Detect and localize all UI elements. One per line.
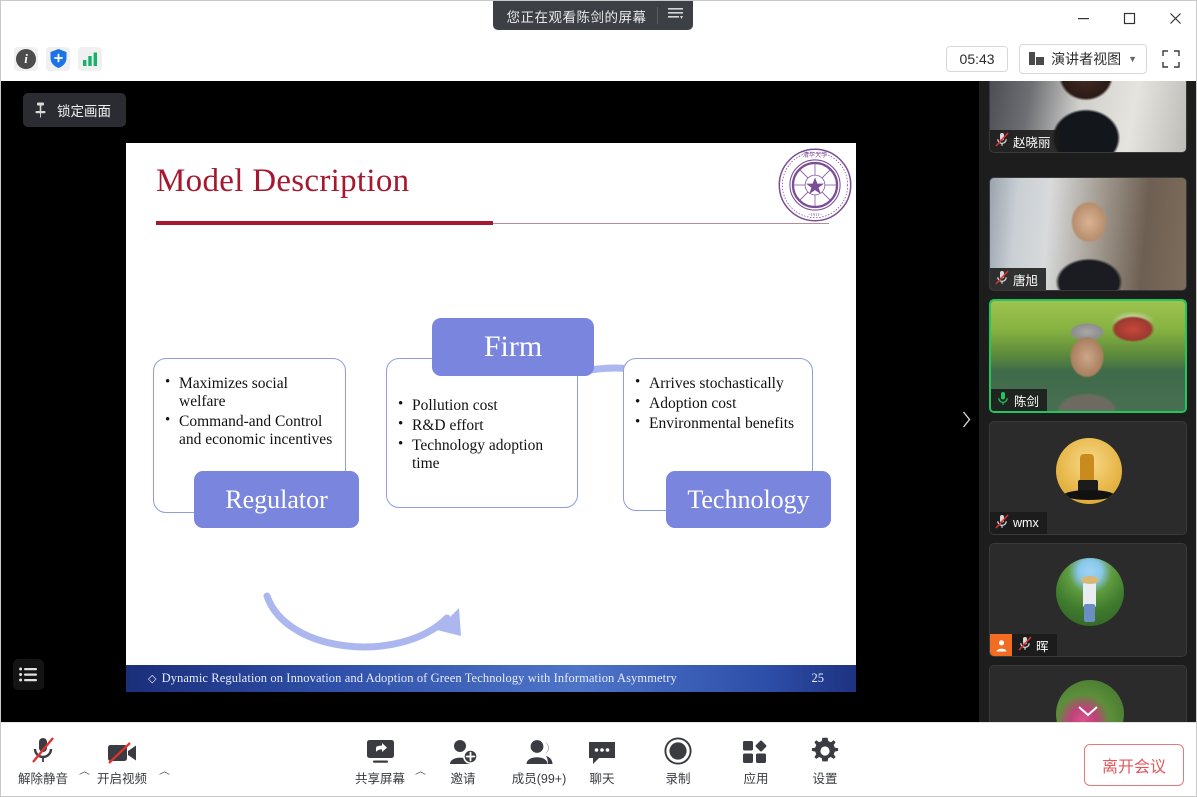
info-icon[interactable]: i <box>14 47 38 71</box>
list-item: Technology adoption time <box>397 437 567 473</box>
chevron-right-icon[interactable] <box>962 411 971 433</box>
list-item: Pollution cost <box>397 397 567 415</box>
view-mode-label: 演讲者视图 <box>1051 49 1121 69</box>
share-screen-button-label: 共享屏幕 <box>355 768 405 787</box>
mic-muted-icon <box>995 270 1009 288</box>
meeting-timer: 05:43 <box>946 46 1008 72</box>
box-firm-bullets: Pollution cost R&D effort Technology ado… <box>397 397 567 474</box>
title-rule-strong <box>156 221 493 225</box>
participant-namebar: 晖 <box>990 634 1057 656</box>
record-button-label: 录制 <box>665 768 690 787</box>
participant-name: 唐旭 <box>1013 270 1038 289</box>
list-item: Maximizes social welfare <box>164 375 335 411</box>
leave-meeting-button[interactable]: 离开会议 <box>1084 744 1184 786</box>
label-firm-text: Firm <box>484 330 542 364</box>
participant-name: 赵晓丽 <box>1013 132 1051 151</box>
meeting-window: 您正在观看陈剑的屏幕 i <box>0 0 1197 797</box>
screen-share-banner[interactable]: 您正在观看陈剑的屏幕 <box>493 1 693 30</box>
invite-user-icon <box>448 733 478 765</box>
participant-name: wmx <box>1013 516 1039 530</box>
apps-button[interactable]: 应用 <box>719 733 793 787</box>
chat-button[interactable]: 聊天 <box>565 733 639 787</box>
label-regulator-text: Regulator <box>225 485 328 515</box>
fullscreen-icon[interactable] <box>1158 46 1184 72</box>
record-icon <box>664 733 692 765</box>
mic-muted-icon <box>995 132 1009 150</box>
arrow-regulator-to-firm <box>261 588 471 668</box>
chat-button-label: 聊天 <box>589 768 614 787</box>
video-button-label: 开启视频 <box>97 768 147 787</box>
mic-muted-icon <box>995 514 1009 532</box>
mute-button-label: 解除静音 <box>18 768 68 787</box>
shared-screen-stage: 锁定画面 Model Description <box>1 81 979 722</box>
participant-namebar: 陈剑 <box>991 389 1047 411</box>
screen-share-banner-label: 您正在观看陈剑的屏幕 <box>507 6 647 26</box>
shield-plus-icon[interactable] <box>46 47 70 71</box>
list-item: Arrives stochastically <box>634 375 802 393</box>
box-regulator-bullets: Maximizes social welfare Command-and Con… <box>164 375 335 450</box>
video-off-icon <box>106 733 138 765</box>
lock-view-label: 锁定画面 <box>57 100 111 120</box>
pin-icon <box>34 102 47 118</box>
slide-footer-text: ◇Dynamic Regulation on Innovation and Ad… <box>126 671 677 686</box>
svg-text:~1911~: ~1911~ <box>808 212 822 217</box>
apps-button-label: 应用 <box>743 768 768 787</box>
speaker-view-icon <box>1029 52 1044 65</box>
list-item: Environmental benefits <box>634 415 802 433</box>
video-button[interactable]: 开启视频 <box>85 733 159 787</box>
maximize-icon[interactable] <box>1106 1 1152 36</box>
box-firm: Pollution cost R&D effort Technology ado… <box>386 358 578 508</box>
host-badge <box>990 634 1012 656</box>
model-diagram: Maximizes social welfare Command-and Con… <box>126 233 856 663</box>
participant-name: 陈剑 <box>1014 391 1039 410</box>
settings-button[interactable]: 设置 <box>788 733 862 787</box>
participant-namebar: wmx <box>990 512 1047 534</box>
mic-active-icon <box>996 391 1010 409</box>
meeting-toolbar: i 05:43 演讲者视图 ▼ <box>1 36 1197 81</box>
label-firm: Firm <box>432 318 594 376</box>
participant-tile[interactable]: 晖 <box>989 543 1187 657</box>
share-options-chevron-icon[interactable]: ︿ <box>415 765 426 778</box>
participants-icon <box>524 733 554 765</box>
avatar <box>1056 438 1122 504</box>
apps-icon <box>742 733 770 765</box>
slide-footer: ◇Dynamic Regulation on Innovation and Ad… <box>126 665 856 692</box>
toolbar-left-group: i <box>1 47 102 71</box>
participant-tile[interactable]: wmx <box>989 421 1187 535</box>
label-regulator: Regulator <box>194 471 359 528</box>
slide-footer-title: Dynamic Regulation on Innovation and Ado… <box>162 671 677 685</box>
settings-button-label: 设置 <box>812 768 837 787</box>
view-mode-selector[interactable]: 演讲者视图 ▼ <box>1019 44 1147 74</box>
banner-divider <box>657 7 658 24</box>
lock-view-button[interactable]: 锁定画面 <box>23 93 126 127</box>
window-controls <box>1060 1 1197 36</box>
participant-tile[interactable]: 赵晓丽 <box>989 81 1187 153</box>
participant-tile[interactable]: 唐旭 <box>989 177 1187 291</box>
participant-rail[interactable]: 赵晓丽 唐旭 陈剑 <box>979 81 1197 722</box>
participant-tile-active-speaker[interactable]: 陈剑 <box>989 299 1187 413</box>
list-item: Adoption cost <box>634 395 802 413</box>
participant-name: 晖 <box>1036 636 1049 655</box>
box-technology-bullets: Arrives stochastically Adoption cost Env… <box>634 375 802 433</box>
chevron-down-icon: ▼ <box>1128 54 1137 64</box>
meeting-controls-bar: 解除静音 ︿ 开启视频 ︿ <box>1 722 1197 797</box>
participant-tile[interactable] <box>989 665 1187 722</box>
mic-muted-icon <box>1018 636 1032 654</box>
diamond-icon: ◇ <box>148 673 157 685</box>
tsinghua-university-seal-icon: 清华大学 ~1911~ <box>777 147 853 223</box>
share-screen-icon <box>365 733 396 765</box>
avatar <box>1056 558 1124 626</box>
toolbar-right-group: 05:43 演讲者视图 ▼ <box>946 44 1197 74</box>
invite-button[interactable]: 邀请 <box>426 733 500 787</box>
video-options-chevron-icon[interactable]: ︿ <box>159 765 170 778</box>
title-bar: 您正在观看陈剑的屏幕 <box>1 1 1197 36</box>
minimize-icon[interactable] <box>1060 1 1106 36</box>
mute-button[interactable]: 解除静音 <box>6 733 80 787</box>
record-button[interactable]: 录制 <box>641 733 715 787</box>
presentation-slide: Model Description 清华大学 ~1911~ <box>126 143 856 692</box>
invite-button-label: 邀请 <box>450 768 475 787</box>
participants-button-label: 成员(99+) <box>512 768 567 787</box>
list-item: Command-and Control and economic incenti… <box>164 413 335 449</box>
gear-icon <box>811 733 839 765</box>
slide-title: Model Description <box>156 163 409 200</box>
share-screen-button[interactable]: 共享屏幕 <box>343 733 417 787</box>
close-icon[interactable] <box>1152 1 1197 36</box>
list-icon[interactable] <box>13 659 44 690</box>
chat-icon <box>587 733 617 765</box>
participant-namebar: 赵晓丽 <box>990 130 1059 152</box>
participant-namebar: 唐旭 <box>990 268 1046 290</box>
chevron-down-icon[interactable] <box>1077 704 1099 721</box>
label-technology-text: Technology <box>687 485 809 515</box>
label-technology: Technology <box>666 471 831 528</box>
list-menu-icon[interactable] <box>668 7 683 22</box>
title-rule-thin <box>493 223 829 224</box>
slide-page-number: 25 <box>812 671 857 686</box>
mic-muted-icon <box>28 733 58 765</box>
network-signal-icon[interactable] <box>78 47 102 71</box>
list-item: R&D effort <box>397 417 567 435</box>
